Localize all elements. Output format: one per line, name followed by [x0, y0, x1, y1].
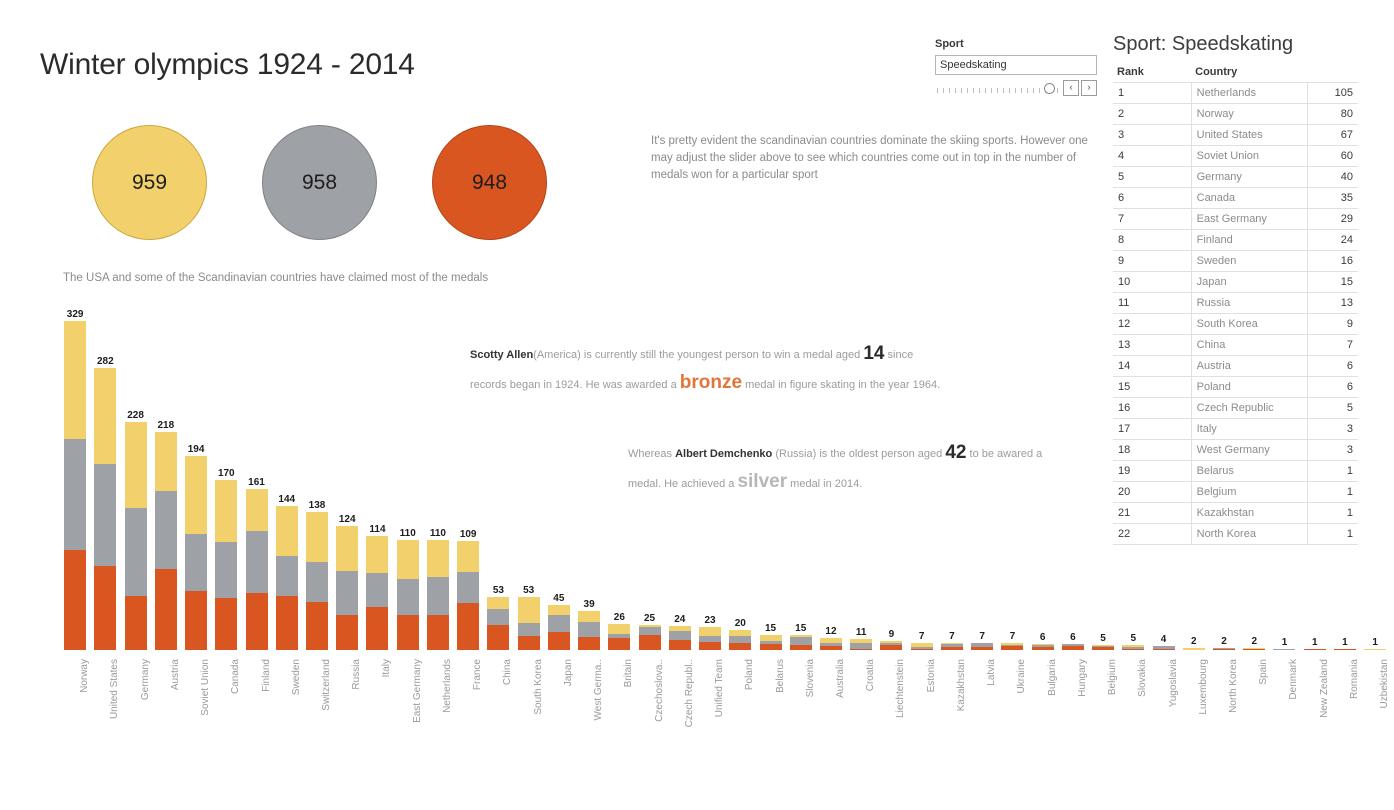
bar-stack [125, 422, 147, 650]
x-axis-tick[interactable]: East Germany [393, 655, 423, 770]
bar-stack [760, 635, 782, 650]
bar-stack [276, 506, 298, 650]
bar-slot[interactable]: 194 [181, 305, 211, 650]
bar-slot[interactable]: 109 [453, 305, 483, 650]
x-axis-tick-label: Belgium [1107, 659, 1118, 695]
bar-stack [1183, 648, 1205, 650]
bar-value-label: 329 [67, 309, 84, 320]
bar-segment-bronze [155, 569, 177, 650]
x-axis-tick[interactable]: Australia [816, 655, 846, 770]
table-row[interactable]: 6Canada35 [1113, 188, 1358, 209]
bar-slot[interactable]: 53 [483, 305, 513, 650]
cell-medals: 80 [1308, 104, 1359, 125]
bar-stack [578, 611, 600, 650]
bar-slot[interactable]: 53 [514, 305, 544, 650]
bar-segment-bronze [850, 649, 872, 650]
cell-rank: 5 [1113, 167, 1191, 188]
bar-slot[interactable]: 228 [120, 305, 150, 650]
x-axis-tick-label: Estonia [926, 659, 937, 692]
slider-next-button[interactable]: › [1081, 80, 1097, 96]
bar-slot[interactable]: 39 [574, 305, 604, 650]
bar-segment-silver [790, 637, 812, 645]
bar-segment-bronze [1092, 647, 1114, 650]
bar-segment-bronze [276, 596, 298, 650]
bar-value-label: 1 [1312, 637, 1318, 648]
bar-segment-bronze [669, 640, 691, 650]
x-axis-tick[interactable]: France [453, 655, 483, 770]
x-axis-tick-label: Germany [140, 659, 151, 700]
bar-slot[interactable]: 2 [1179, 305, 1209, 650]
x-axis-tick-label: Sweden [291, 659, 302, 695]
x-axis-tick-label: Australia [835, 659, 846, 698]
x-axis-tick[interactable]: Soviet Union [181, 655, 211, 770]
bar-segment-gold [608, 624, 630, 634]
bar-segment-gold [246, 489, 268, 531]
table-row[interactable]: 10Japan15 [1113, 272, 1358, 293]
table-row[interactable]: 3United States67 [1113, 125, 1358, 146]
table-row[interactable]: 9Sweden16 [1113, 251, 1358, 272]
x-axis-tick[interactable]: Slovenia [786, 655, 816, 770]
bar-segment-silver [306, 562, 328, 602]
bar-segment-bronze [729, 643, 751, 650]
x-axis-tick[interactable]: Poland [725, 655, 755, 770]
bar-value-label: 15 [765, 623, 776, 634]
bar-segment-bronze [1122, 649, 1144, 650]
bar-slot[interactable]: 15 [786, 305, 816, 650]
bar-segment-gold [276, 506, 298, 556]
bar-stack [94, 368, 116, 650]
bar-slot[interactable]: 12 [816, 305, 846, 650]
cell-rank: 10 [1113, 272, 1191, 293]
bar-value-label: 26 [614, 612, 625, 623]
x-axis-tick-label: Spain [1258, 659, 1269, 685]
cell-rank: 2 [1113, 104, 1191, 125]
x-axis-tick[interactable]: Denmark [1269, 655, 1299, 770]
x-axis-tick-label: New Zealand [1319, 659, 1330, 718]
x-axis-tick[interactable]: Czechoslova.. [634, 655, 664, 770]
bar-stack [1243, 648, 1265, 650]
x-axis-tick-label: Bulgaria [1047, 659, 1058, 696]
bar-slot[interactable]: 170 [211, 305, 241, 650]
bar-slot[interactable]: 24 [665, 305, 695, 650]
x-axis-tick[interactable]: Hungary [1058, 655, 1088, 770]
table-row[interactable]: 1Netherlands105 [1113, 83, 1358, 104]
bar-stack [1213, 648, 1235, 650]
x-axis-tick[interactable]: Russia [332, 655, 362, 770]
x-axis-tick-label: Ukraine [1016, 659, 1027, 693]
cell-medals: 40 [1308, 167, 1359, 188]
bar-stack [1001, 643, 1023, 650]
table-header-row: Rank Country [1113, 66, 1358, 83]
bar-stack [971, 643, 993, 650]
bar-segment-bronze [820, 646, 842, 650]
bar-slot[interactable]: 6 [1028, 305, 1058, 650]
cell-country: Finland [1191, 230, 1307, 251]
bar-value-label: 4 [1161, 634, 1167, 645]
x-axis-tick-label: Russia [351, 659, 362, 690]
bar-value-label: 1 [1342, 637, 1348, 648]
column-header-rank[interactable]: Rank [1113, 66, 1191, 83]
bar-value-label: 12 [825, 626, 836, 637]
bar-slot[interactable]: 6 [1058, 305, 1088, 650]
bar-segment-bronze [1213, 649, 1235, 650]
x-axis-tick[interactable]: Luxembourg [1179, 655, 1209, 770]
x-axis-tick[interactable]: Switzerland [302, 655, 332, 770]
kpi-row: 959 958 948 [92, 125, 547, 240]
cell-rank: 4 [1113, 146, 1191, 167]
bar-slot[interactable]: 26 [604, 305, 634, 650]
x-axis-tick[interactable]: Romania [1330, 655, 1360, 770]
x-axis-tick[interactable]: Ukraine [997, 655, 1027, 770]
bar-segment-silver [729, 636, 751, 643]
cell-country: Japan [1191, 272, 1307, 293]
x-axis-tick-label: Belarus [775, 659, 786, 693]
x-axis-tick[interactable]: North Korea [1209, 655, 1239, 770]
kpi-silver-total[interactable]: 958 [262, 125, 377, 240]
bar-slot[interactable]: 7 [967, 305, 997, 650]
bar-slot[interactable]: 25 [634, 305, 664, 650]
bar-segment-gold [155, 432, 177, 491]
bar-segment-bronze [125, 596, 147, 650]
cell-medals: 15 [1308, 272, 1359, 293]
bar-segment-gold [215, 480, 237, 542]
x-axis-tick-label: Finland [261, 659, 272, 692]
bar-value-label: 7 [949, 631, 955, 642]
x-axis-tick[interactable]: New Zealand [1300, 655, 1330, 770]
bar-stack [911, 643, 933, 650]
x-axis-tick[interactable]: Sweden [272, 655, 302, 770]
bar-segment-silver [125, 508, 147, 596]
bar-segment-bronze [64, 550, 86, 650]
cell-medals: 67 [1308, 125, 1359, 146]
chart-subtitle: The USA and some of the Scandinavian cou… [63, 270, 493, 287]
bar-slot[interactable]: 1 [1360, 305, 1390, 650]
bar-value-label: 2 [1251, 636, 1257, 647]
x-axis-tick[interactable]: Belarus [755, 655, 785, 770]
x-axis-tick[interactable]: Latvia [967, 655, 997, 770]
bar-slot[interactable]: 45 [544, 305, 574, 650]
bar-slot[interactable]: 329 [60, 305, 90, 650]
sport-filter: Sport ‹ › [935, 38, 1097, 95]
bar-value-label: 1 [1372, 637, 1378, 648]
cell-medals: 16 [1308, 251, 1359, 272]
bar-stack [457, 541, 479, 650]
bar-stack [941, 643, 963, 650]
x-axis-tick[interactable]: Estonia [907, 655, 937, 770]
x-axis-tick[interactable]: Uzbekistan [1360, 655, 1390, 770]
bar-stack [215, 480, 237, 650]
x-axis-tick-label: Norway [79, 659, 90, 693]
slider-ticks [937, 88, 1059, 93]
bar-segment-silver [215, 542, 237, 598]
bar-slot[interactable]: 2 [1239, 305, 1269, 650]
x-axis-tick[interactable]: Italy [362, 655, 392, 770]
bar-segment-bronze [427, 615, 449, 650]
cell-rank: 9 [1113, 251, 1191, 272]
cell-country: East Germany [1191, 209, 1307, 230]
bar-segment-silver [548, 615, 570, 632]
x-axis-tick-label: Poland [744, 659, 755, 690]
bar-value-label: 138 [309, 500, 326, 511]
bar-stack [366, 536, 388, 650]
bar-value-label: 6 [1070, 632, 1076, 643]
bar-slot[interactable]: 7 [937, 305, 967, 650]
cell-medals: 35 [1308, 188, 1359, 209]
bar-stack [880, 641, 902, 650]
x-axis-tick[interactable]: Netherlands [423, 655, 453, 770]
bar-value-label: 194 [188, 444, 205, 455]
bar-segment-silver [578, 622, 600, 637]
bar-slot[interactable]: 124 [332, 305, 362, 650]
bar-segment-bronze [397, 615, 419, 650]
x-axis-tick[interactable]: Austria [151, 655, 181, 770]
bar-segment-bronze [548, 632, 570, 650]
x-axis-tick-label: Japan [563, 659, 574, 686]
bar-stack [669, 626, 691, 650]
bar-stack [548, 605, 570, 650]
bar-stack [246, 489, 268, 650]
bar-value-label: 2 [1221, 636, 1227, 647]
x-axis-tick[interactable]: Slovakia [1118, 655, 1148, 770]
bar-segment-bronze [215, 598, 237, 650]
bar-value-label: 5 [1100, 633, 1106, 644]
bar-stack [1062, 644, 1084, 650]
kpi-gold-total[interactable]: 959 [92, 125, 207, 240]
cell-country: Netherlands [1191, 83, 1307, 104]
medals-bar-chart: 3292822282181941701611441381241141101101… [60, 305, 1390, 650]
slider-thumb[interactable] [1044, 83, 1055, 94]
table-row[interactable]: 5Germany40 [1113, 167, 1358, 188]
bar-slot[interactable]: 114 [362, 305, 392, 650]
x-axis-tick-label: China [502, 659, 513, 685]
cell-country: Norway [1191, 104, 1307, 125]
bar-slot[interactable]: 7 [907, 305, 937, 650]
bar-value-label: 53 [493, 585, 504, 596]
bar-segment-gold [1364, 649, 1386, 650]
bar-segment-bronze [941, 647, 963, 650]
bar-slot[interactable]: 2 [1209, 305, 1239, 650]
x-axis-tick[interactable]: Canada [211, 655, 241, 770]
sport-detail-title: Sport: Speedskating [1113, 33, 1358, 56]
bar-stack [790, 635, 812, 650]
bar-slot[interactable]: 7 [997, 305, 1027, 650]
bar-segment-gold [578, 611, 600, 622]
bar-segment-bronze [1153, 649, 1175, 650]
cell-country: Sweden [1191, 251, 1307, 272]
x-axis-tick-label: South Korea [533, 659, 544, 715]
x-axis-tick-label: Switzerland [321, 659, 332, 711]
bar-slot[interactable]: 11 [846, 305, 876, 650]
bar-chart-x-axis: NorwayUnited StatesGermanyAustriaSoviet … [60, 655, 1390, 770]
bar-segment-bronze [1334, 649, 1356, 650]
slider-prev-button[interactable]: ‹ [1063, 80, 1079, 96]
bar-segment-silver [1273, 649, 1295, 650]
bar-value-label: 39 [584, 599, 595, 610]
x-axis-tick[interactable]: Kazakhstan [937, 655, 967, 770]
bar-segment-silver [64, 439, 86, 550]
bar-stack [1032, 644, 1054, 650]
bar-segment-silver [427, 577, 449, 615]
bar-segment-gold [94, 368, 116, 464]
x-axis-tick-label: Unified Team [714, 659, 725, 717]
table-row[interactable]: 7East Germany29 [1113, 209, 1358, 230]
bar-segment-silver [185, 534, 207, 591]
bar-segment-silver [669, 631, 691, 640]
cell-medals: 60 [1308, 146, 1359, 167]
x-axis-tick[interactable]: Norway [60, 655, 90, 770]
bar-slot[interactable]: 5 [1088, 305, 1118, 650]
kpi-silver-value: 958 [302, 171, 337, 195]
bar-value-label: 5 [1131, 633, 1137, 644]
column-header-country[interactable]: Country [1191, 66, 1307, 83]
kpi-bronze-total[interactable]: 948 [432, 125, 547, 240]
bar-segment-silver [366, 573, 388, 607]
bar-value-label: 25 [644, 613, 655, 624]
x-axis-tick-label: United States [109, 659, 120, 719]
bar-value-label: 228 [127, 410, 144, 421]
bar-slot[interactable]: 1 [1300, 305, 1330, 650]
bar-value-label: 2 [1191, 636, 1197, 647]
x-axis-tick-label: Croatia [865, 659, 876, 691]
bar-segment-bronze [1304, 649, 1326, 650]
bar-segment-gold [457, 541, 479, 572]
sport-slider-track[interactable] [935, 82, 1061, 94]
bar-stack [487, 597, 509, 650]
x-axis-tick[interactable]: Britain [604, 655, 634, 770]
bar-segment-silver [487, 609, 509, 625]
bar-stack [1304, 649, 1326, 650]
bar-value-label: 6 [1040, 632, 1046, 643]
bar-slot[interactable]: 20 [725, 305, 755, 650]
bar-stack [336, 526, 358, 650]
table-row[interactable]: 8Finland24 [1113, 230, 1358, 251]
bar-value-label: 24 [674, 614, 685, 625]
x-axis-tick-label: Kazakhstan [956, 659, 967, 711]
x-axis-tick-label: Soviet Union [200, 659, 211, 716]
bar-segment-gold [397, 540, 419, 579]
x-axis-tick[interactable]: United States [90, 655, 120, 770]
bar-segment-gold [518, 597, 540, 623]
x-axis-tick[interactable]: South Korea [514, 655, 544, 770]
bar-slot[interactable]: 15 [755, 305, 785, 650]
bar-value-label: 124 [339, 514, 356, 525]
bar-segment-bronze [608, 638, 630, 650]
bar-slot[interactable]: 282 [90, 305, 120, 650]
page-title: Winter olympics 1924 - 2014 [40, 48, 415, 82]
bar-segment-silver [457, 572, 479, 603]
bar-segment-bronze [1032, 647, 1054, 650]
bar-slot[interactable]: 23 [695, 305, 725, 650]
bar-segment-gold [699, 627, 721, 636]
x-axis-tick[interactable]: Spain [1239, 655, 1269, 770]
bar-segment-gold [427, 540, 449, 577]
x-axis-tick[interactable]: Croatia [846, 655, 876, 770]
bar-segment-bronze [1243, 649, 1265, 650]
x-axis-tick-label: Liechtenstein [895, 659, 906, 718]
x-axis-tick[interactable]: Liechtenstein [876, 655, 906, 770]
bar-stack [608, 624, 630, 650]
bar-chart-plot: 3292822282181941701611441381241141101101… [60, 305, 1390, 650]
bar-segment-silver [94, 464, 116, 566]
x-axis-tick[interactable]: West Germa.. [574, 655, 604, 770]
x-axis-tick-label: Romania [1349, 659, 1360, 699]
bar-value-label: 53 [523, 585, 534, 596]
bar-stack [518, 597, 540, 650]
x-axis-tick[interactable]: Finland [241, 655, 271, 770]
bar-value-label: 218 [157, 420, 174, 431]
bar-stack [1273, 649, 1295, 650]
cell-medals: 24 [1308, 230, 1359, 251]
bar-stack [1153, 646, 1175, 650]
bar-slot[interactable]: 144 [272, 305, 302, 650]
bar-slot[interactable]: 1 [1269, 305, 1299, 650]
x-axis-tick[interactable]: Yugoslavia [1148, 655, 1178, 770]
table-row[interactable]: 2Norway80 [1113, 104, 1358, 125]
bar-segment-silver [397, 579, 419, 615]
bar-value-label: 282 [97, 356, 114, 367]
sport-slider-row: ‹ › [935, 81, 1097, 95]
bar-segment-silver [276, 556, 298, 596]
kpi-bronze-value: 948 [472, 171, 507, 195]
sport-filter-input[interactable] [935, 55, 1097, 75]
bar-slot[interactable]: 218 [151, 305, 181, 650]
x-axis-tick-label: Denmark [1288, 659, 1299, 700]
cell-medals: 105 [1308, 83, 1359, 104]
x-axis-tick[interactable]: Unified Team [695, 655, 725, 770]
bar-value-label: 20 [735, 618, 746, 629]
bar-value-label: 144 [278, 494, 295, 505]
x-axis-tick-label: Slovenia [805, 659, 816, 697]
bar-segment-bronze [1062, 646, 1084, 650]
x-axis-tick[interactable]: Japan [544, 655, 574, 770]
bar-slot[interactable]: 110 [393, 305, 423, 650]
bar-segment-bronze [94, 566, 116, 650]
kpi-gold-value: 959 [132, 171, 167, 195]
x-axis-tick-label: Canada [230, 659, 241, 694]
bar-slot[interactable]: 110 [423, 305, 453, 650]
bar-stack [306, 512, 328, 650]
bar-segment-bronze [911, 649, 933, 650]
bar-segment-gold [487, 597, 509, 609]
bar-slot[interactable]: 161 [241, 305, 271, 650]
bar-slot[interactable]: 138 [302, 305, 332, 650]
bar-segment-bronze [246, 593, 268, 650]
bar-segment-bronze [487, 625, 509, 650]
x-axis-tick[interactable]: Czech Republ.. [665, 655, 695, 770]
x-axis-tick[interactable]: Germany [120, 655, 150, 770]
bar-segment-silver [155, 491, 177, 569]
x-axis-tick[interactable]: China [483, 655, 513, 770]
bar-stack [1334, 649, 1356, 650]
bar-slot[interactable]: 1 [1330, 305, 1360, 650]
cell-country: Germany [1191, 167, 1307, 188]
bar-slot[interactable]: 5 [1118, 305, 1148, 650]
bar-stack [639, 625, 661, 650]
bar-value-label: 7 [979, 631, 985, 642]
bar-slot[interactable]: 9 [876, 305, 906, 650]
x-axis-tick[interactable]: Belgium [1088, 655, 1118, 770]
column-header-medals[interactable] [1308, 66, 1359, 83]
table-row[interactable]: 4Soviet Union60 [1113, 146, 1358, 167]
bar-stack [397, 540, 419, 650]
bar-value-label: 110 [430, 528, 446, 539]
bar-stack [64, 321, 86, 650]
bar-slot[interactable]: 4 [1148, 305, 1178, 650]
x-axis-tick[interactable]: Bulgaria [1028, 655, 1058, 770]
bar-value-label: 7 [919, 631, 925, 642]
x-axis-tick-label: Uzbekistan [1379, 659, 1390, 708]
cell-country: Canada [1191, 188, 1307, 209]
